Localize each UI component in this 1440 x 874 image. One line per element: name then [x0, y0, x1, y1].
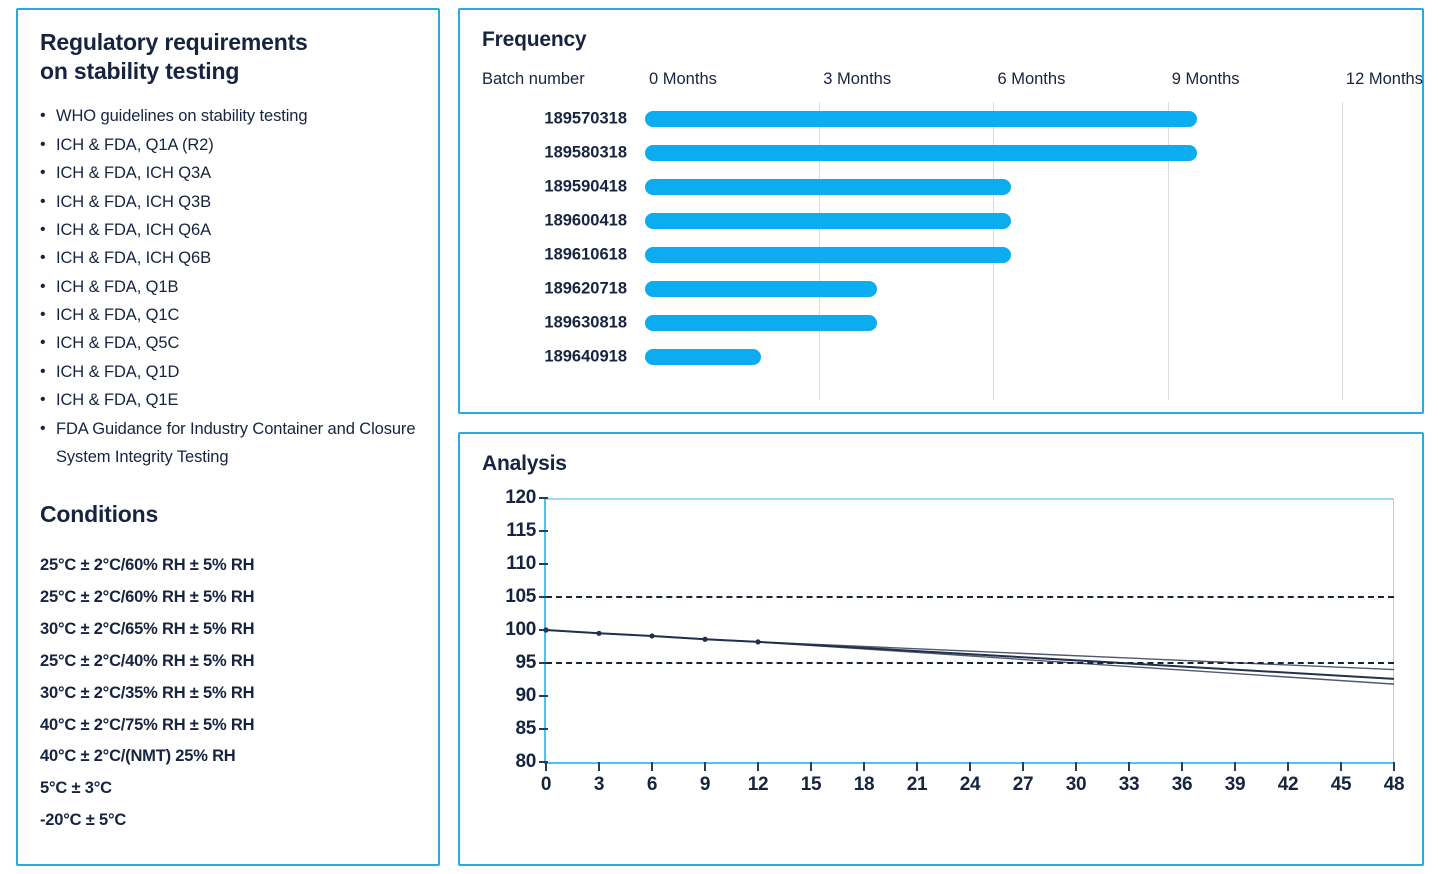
- regulatory-list-item-label: ICH & FDA, Q1A (R2): [56, 131, 416, 159]
- bullet-icon: •: [40, 244, 56, 272]
- analysis-data-point-marker: [702, 637, 707, 642]
- frequency-bar: [645, 349, 761, 365]
- frequency-batch-label: 189580318: [482, 144, 627, 163]
- frequency-header-month-6: 6 Months: [997, 70, 1065, 89]
- analysis-xtick-mark-6: [651, 762, 653, 771]
- regulatory-list-item: •ICH & FDA, ICH Q3B: [40, 188, 416, 216]
- regulatory-list-item-label: ICH & FDA, Q1D: [56, 358, 416, 386]
- frequency-batch-label: 189570318: [482, 110, 627, 129]
- analysis-chart-title: Analysis: [482, 452, 1400, 476]
- bullet-icon: •: [40, 415, 56, 472]
- analysis-ytick-label-95: 95: [515, 652, 536, 674]
- frequency-bar: [645, 281, 877, 297]
- analysis-xtick-label-42: 42: [1278, 774, 1299, 796]
- analysis-line-svg: [546, 498, 1394, 762]
- regulatory-list-item: •ICH & FDA, Q1D: [40, 358, 416, 386]
- regulatory-list-item: •ICH & FDA, ICH Q6A: [40, 216, 416, 244]
- analysis-data-point-marker: [596, 631, 601, 636]
- frequency-batch-label: 189600418: [482, 212, 627, 231]
- regulatory-list-item-label: ICH & FDA, Q1B: [56, 273, 416, 301]
- regulatory-list-item: •ICH & FDA, ICH Q3A: [40, 159, 416, 187]
- analysis-xtick-mark-12: [757, 762, 759, 771]
- analysis-xtick-mark-36: [1181, 762, 1183, 771]
- analysis-xtick-label-24: 24: [960, 774, 981, 796]
- analysis-xtick-mark-9: [704, 762, 706, 771]
- analysis-xtick-label-30: 30: [1066, 774, 1087, 796]
- frequency-chart-body: Batch number0 Months3 Months6 Months9 Mo…: [482, 70, 1400, 400]
- bullet-icon: •: [40, 159, 56, 187]
- regulatory-list-item: •ICH & FDA, Q1A (R2): [40, 131, 416, 159]
- regulatory-list-item-label: ICH & FDA, Q1C: [56, 301, 416, 329]
- analysis-ytick-mark-100: [539, 629, 548, 631]
- analysis-chart-body: 8085909510010511011512003691215182124273…: [482, 492, 1400, 822]
- conditions-title: Conditions: [40, 501, 416, 528]
- frequency-batch-label: 189610618: [482, 246, 627, 265]
- frequency-bar: [645, 213, 1011, 229]
- frequency-bar: [645, 247, 1011, 263]
- condition-list-item: 30°C ± 2°C/65% RH ± 5% RH: [40, 614, 416, 646]
- bullet-icon: •: [40, 102, 56, 130]
- frequency-bar-row: 189570318: [482, 102, 1400, 136]
- condition-list-item: 40°C ± 2°C/75% RH ± 5% RH: [40, 710, 416, 742]
- analysis-xtick-mark-24: [969, 762, 971, 771]
- analysis-plot-area: 8085909510010511011512003691215182124273…: [544, 498, 1394, 764]
- regulatory-list-item: •ICH & FDA, ICH Q6B: [40, 244, 416, 272]
- regulatory-list-item-label: WHO guidelines on stability testing: [56, 102, 416, 130]
- regulatory-title-line-2: on stability testing: [40, 58, 239, 84]
- analysis-ytick-label-120: 120: [505, 487, 536, 509]
- condition-list-item: 25°C ± 2°C/60% RH ± 5% RH: [40, 550, 416, 582]
- frequency-batch-label: 189590418: [482, 178, 627, 197]
- condition-list-item: 25°C ± 2°C/40% RH ± 5% RH: [40, 646, 416, 678]
- frequency-header-month-0: 0 Months: [649, 70, 717, 89]
- frequency-panel: Frequency Batch number0 Months3 Months6 …: [458, 8, 1424, 414]
- frequency-header-batch-number: Batch number: [482, 70, 585, 89]
- analysis-ytick-label-110: 110: [506, 553, 536, 575]
- analysis-ytick-label-80: 80: [515, 751, 536, 773]
- infographic-page: Regulatory requirements on stability tes…: [0, 0, 1440, 874]
- regulatory-list-item-label: ICH & FDA, ICH Q6A: [56, 216, 416, 244]
- bullet-icon: •: [40, 188, 56, 216]
- analysis-ytick-label-90: 90: [515, 685, 536, 707]
- regulatory-list-item-label: ICH & FDA, Q5C: [56, 329, 416, 357]
- regulatory-list: •WHO guidelines on stability testing•ICH…: [40, 102, 416, 471]
- analysis-xtick-mark-0: [545, 762, 547, 771]
- analysis-spec-limit-line-105: [546, 596, 1394, 598]
- frequency-bar-row: 189620718: [482, 272, 1400, 306]
- analysis-xtick-label-33: 33: [1119, 774, 1140, 796]
- condition-list-item: 40°C ± 2°C/(NMT) 25% RH: [40, 741, 416, 773]
- analysis-xtick-mark-48: [1393, 762, 1395, 771]
- analysis-ytick-mark-120: [539, 497, 548, 499]
- regulatory-panel: Regulatory requirements on stability tes…: [16, 8, 440, 866]
- analysis-xtick-mark-15: [810, 762, 812, 771]
- analysis-xtick-label-36: 36: [1172, 774, 1193, 796]
- frequency-bar-row: 189610618: [482, 238, 1400, 272]
- frequency-batch-label: 189640918: [482, 348, 627, 367]
- bullet-icon: •: [40, 329, 56, 357]
- analysis-spec-limit-line-95: [546, 662, 1394, 664]
- regulatory-list-item-label: ICH & FDA, Q1E: [56, 386, 416, 414]
- analysis-xtick-mark-42: [1287, 762, 1289, 771]
- conditions-list: 25°C ± 2°C/60% RH ± 5% RH25°C ± 2°C/60% …: [40, 550, 416, 837]
- analysis-xtick-label-39: 39: [1225, 774, 1246, 796]
- analysis-xtick-mark-39: [1234, 762, 1236, 771]
- charts-column: Frequency Batch number0 Months3 Months6 …: [458, 8, 1424, 866]
- regulatory-list-item-label: ICH & FDA, ICH Q6B: [56, 244, 416, 272]
- analysis-xtick-label-12: 12: [748, 774, 769, 796]
- bullet-icon: •: [40, 386, 56, 414]
- regulatory-list-item: •FDA Guidance for Industry Container and…: [40, 415, 416, 472]
- frequency-column-headers: Batch number0 Months3 Months6 Months9 Mo…: [482, 70, 1400, 98]
- condition-list-item: -20°C ± 5°C: [40, 805, 416, 837]
- frequency-bar: [645, 111, 1197, 127]
- regulatory-list-item-label: ICH & FDA, ICH Q3B: [56, 188, 416, 216]
- analysis-xtick-mark-27: [1022, 762, 1024, 771]
- condition-list-item: 25°C ± 2°C/60% RH ± 5% RH: [40, 582, 416, 614]
- frequency-bar-row: 189590418: [482, 170, 1400, 204]
- frequency-bar-row: 189630818: [482, 306, 1400, 340]
- frequency-batch-label: 189630818: [482, 314, 627, 333]
- analysis-xtick-label-18: 18: [854, 774, 875, 796]
- frequency-bar-row: 189600418: [482, 204, 1400, 238]
- bullet-icon: •: [40, 273, 56, 301]
- analysis-xtick-label-48: 48: [1384, 774, 1405, 796]
- analysis-xtick-label-45: 45: [1331, 774, 1352, 796]
- analysis-ytick-label-85: 85: [515, 718, 536, 740]
- analysis-ytick-label-100: 100: [505, 619, 536, 641]
- frequency-bar: [645, 315, 877, 331]
- analysis-ytick-mark-115: [539, 530, 548, 532]
- regulatory-panel-title: Regulatory requirements on stability tes…: [40, 28, 416, 86]
- regulatory-list-item: •ICH & FDA, Q1B: [40, 273, 416, 301]
- analysis-xtick-label-21: 21: [907, 774, 928, 796]
- bullet-icon: •: [40, 131, 56, 159]
- frequency-header-month-12: 12 Months: [1346, 70, 1423, 89]
- analysis-xtick-label-0: 0: [541, 774, 551, 796]
- frequency-plot-area: 1895703181895803181895904181896004181896…: [482, 102, 1400, 400]
- frequency-bar-row: 189640918: [482, 340, 1400, 374]
- frequency-chart-title: Frequency: [482, 28, 1400, 52]
- condition-list-item: 30°C ± 2°C/35% RH ± 5% RH: [40, 678, 416, 710]
- regulatory-list-item-label: FDA Guidance for Industry Container and …: [56, 415, 416, 472]
- analysis-xtick-label-3: 3: [594, 774, 604, 796]
- regulatory-list-item: •WHO guidelines on stability testing: [40, 102, 416, 130]
- analysis-ytick-mark-90: [539, 695, 548, 697]
- regulatory-list-item: •ICH & FDA, Q1C: [40, 301, 416, 329]
- analysis-xtick-mark-45: [1340, 762, 1342, 771]
- analysis-xtick-mark-30: [1075, 762, 1077, 771]
- analysis-ytick-label-115: 115: [506, 520, 536, 542]
- analysis-xtick-mark-33: [1128, 762, 1130, 771]
- bullet-icon: •: [40, 301, 56, 329]
- analysis-ytick-label-105: 105: [505, 586, 536, 608]
- analysis-xtick-label-27: 27: [1013, 774, 1034, 796]
- regulatory-title-line-1: Regulatory requirements: [40, 29, 308, 55]
- frequency-header-month-3: 3 Months: [823, 70, 891, 89]
- analysis-ytick-mark-85: [539, 728, 548, 730]
- analysis-xtick-mark-3: [598, 762, 600, 771]
- bullet-icon: •: [40, 358, 56, 386]
- frequency-bar: [645, 179, 1011, 195]
- frequency-bar: [645, 145, 1197, 161]
- analysis-panel: Analysis 8085909510010511011512003691215…: [458, 432, 1424, 866]
- frequency-batch-label: 189620718: [482, 280, 627, 299]
- frequency-header-month-9: 9 Months: [1172, 70, 1240, 89]
- analysis-xtick-label-6: 6: [647, 774, 657, 796]
- regulatory-list-item-label: ICH & FDA, ICH Q3A: [56, 159, 416, 187]
- analysis-xtick-mark-21: [916, 762, 918, 771]
- analysis-ytick-mark-110: [539, 563, 548, 565]
- analysis-xtick-label-9: 9: [700, 774, 710, 796]
- analysis-xtick-label-15: 15: [801, 774, 822, 796]
- regulatory-list-item: •ICH & FDA, Q5C: [40, 329, 416, 357]
- frequency-bar-row: 189580318: [482, 136, 1400, 170]
- bullet-icon: •: [40, 216, 56, 244]
- condition-list-item: 5°C ± 3°C: [40, 773, 416, 805]
- analysis-xtick-mark-18: [863, 762, 865, 771]
- regulatory-list-item: •ICH & FDA, Q1E: [40, 386, 416, 414]
- analysis-data-point-marker: [755, 639, 760, 644]
- analysis-data-point-marker: [649, 633, 654, 638]
